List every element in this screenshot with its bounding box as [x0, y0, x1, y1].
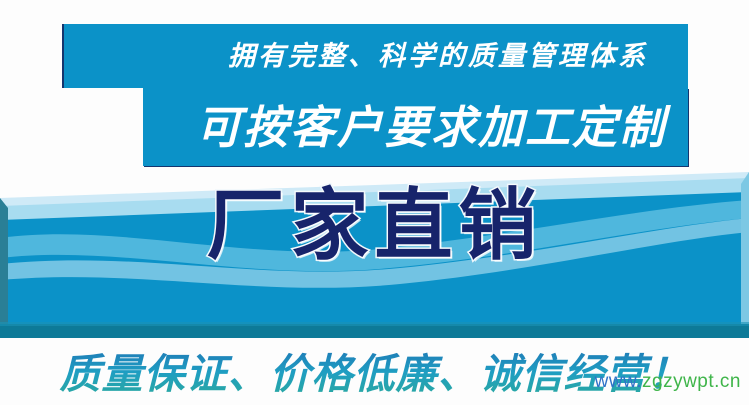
promo-banner-canvas: 拥有完整、科学的质量管理体系 可按客户要求加工定制 厂家直销 质	[0, 0, 749, 405]
banner-block-top: 拥有完整、科学的质量管理体系	[64, 24, 688, 88]
watermark-prefix: www.	[595, 371, 642, 392]
watermark: www.zgzywpt.cn	[595, 371, 741, 393]
banner-block-bottom: 可按客户要求加工定制	[143, 88, 688, 166]
banner-line-2-text: 可按客户要求加工定制	[196, 105, 666, 150]
band-bottom-bevel-highlight	[0, 322, 749, 326]
headline-text: 厂家直销	[0, 186, 749, 264]
watermark-domain: zgzywpt.cn	[642, 371, 741, 392]
band-bottom-bevel	[0, 324, 749, 338]
banner-line-1-text: 拥有完整、科学的质量管理体系	[228, 43, 648, 70]
